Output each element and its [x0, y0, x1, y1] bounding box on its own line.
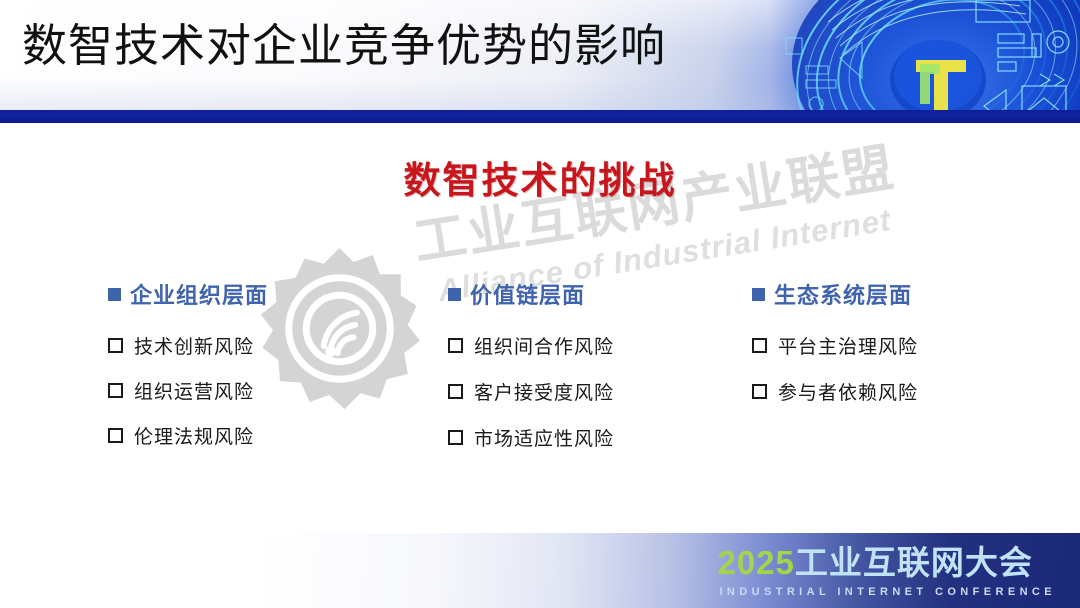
- hollow-square-bullet-icon: [752, 384, 767, 399]
- conference-logo-main: 2025工业互联网大会: [717, 545, 1056, 581]
- column-heading-3-label: 生态系统层面: [774, 278, 912, 310]
- list-item: 伦理法规风险: [108, 422, 428, 449]
- column-enterprise-organization: 企业组织层面 技术创新风险 组织运营风险 伦理法规风险: [108, 278, 428, 467]
- risk-columns-group: 企业组织层面 技术创新风险 组织运营风险 伦理法规风险: [0, 123, 1080, 533]
- header-divider-bar: [0, 110, 1080, 123]
- item-list-3: 平台主治理风险 参与者依赖风险: [752, 332, 1052, 405]
- hollow-square-bullet-icon: [108, 383, 123, 398]
- square-bullet-icon: [448, 288, 461, 301]
- hollow-square-bullet-icon: [448, 430, 463, 445]
- list-item-label: 客户接受度风险: [474, 378, 614, 405]
- slide-title: 数智技术对企业竞争优势的影响: [22, 16, 666, 76]
- list-item-label: 组织运营风险: [134, 377, 254, 404]
- list-item: 组织间合作风险: [448, 332, 748, 359]
- list-item-label: 组织间合作风险: [474, 332, 614, 359]
- slide-canvas: 数智技术对企业竞争优势的影响 工业互联网产业联盟: [0, 0, 1080, 608]
- hollow-square-bullet-icon: [448, 338, 463, 353]
- conference-logo: 2025工业互联网大会 INDUSTRIAL INTERNET CONFEREN…: [717, 545, 1056, 600]
- item-list-1: 技术创新风险 组织运营风险 伦理法规风险: [108, 332, 428, 449]
- column-value-chain: 价值链层面 组织间合作风险 客户接受度风险 市场适应性风险: [448, 278, 748, 470]
- conference-logo-en: INDUSTRIAL INTERNET CONFERENCE: [717, 584, 1056, 600]
- square-bullet-icon: [108, 288, 121, 301]
- hollow-square-bullet-icon: [108, 428, 123, 443]
- hollow-square-bullet-icon: [752, 338, 767, 353]
- list-item: 技术创新风险: [108, 332, 428, 359]
- column-heading-3: 生态系统层面: [752, 278, 1052, 310]
- slide-body: 工业互联网产业联盟 Alliance of Industrial Interne…: [0, 123, 1080, 533]
- list-item: 客户接受度风险: [448, 378, 748, 405]
- list-item-label: 平台主治理风险: [778, 332, 918, 359]
- square-bullet-icon: [752, 288, 765, 301]
- column-heading-1-label: 企业组织层面: [130, 278, 268, 310]
- list-item-label: 参与者依赖风险: [778, 378, 918, 405]
- conference-logo-cn: 工业互联网大会: [795, 544, 1033, 581]
- list-item: 参与者依赖风险: [752, 378, 1052, 405]
- list-item: 组织运营风险: [108, 377, 428, 404]
- column-ecosystem: 生态系统层面 平台主治理风险 参与者依赖风险: [752, 278, 1052, 424]
- list-item-label: 伦理法规风险: [134, 422, 254, 449]
- list-item: 市场适应性风险: [448, 424, 748, 451]
- slide-header: 数智技术对企业竞争优势的影响: [0, 0, 1080, 110]
- list-item-label: 技术创新风险: [134, 332, 254, 359]
- item-list-2: 组织间合作风险 客户接受度风险 市场适应性风险: [448, 332, 748, 451]
- tech-circuit-decoration-icon: [770, 0, 1080, 110]
- hollow-square-bullet-icon: [448, 384, 463, 399]
- hollow-square-bullet-icon: [108, 338, 123, 353]
- list-item-label: 市场适应性风险: [474, 424, 614, 451]
- column-heading-1: 企业组织层面: [108, 278, 428, 310]
- slide-footer: 2025工业互联网大会 INDUSTRIAL INTERNET CONFEREN…: [0, 533, 1080, 608]
- column-heading-2-label: 价值链层面: [470, 278, 585, 310]
- column-heading-2: 价值链层面: [448, 278, 748, 310]
- conference-logo-year: 2025: [717, 544, 794, 581]
- list-item: 平台主治理风险: [752, 332, 1052, 359]
